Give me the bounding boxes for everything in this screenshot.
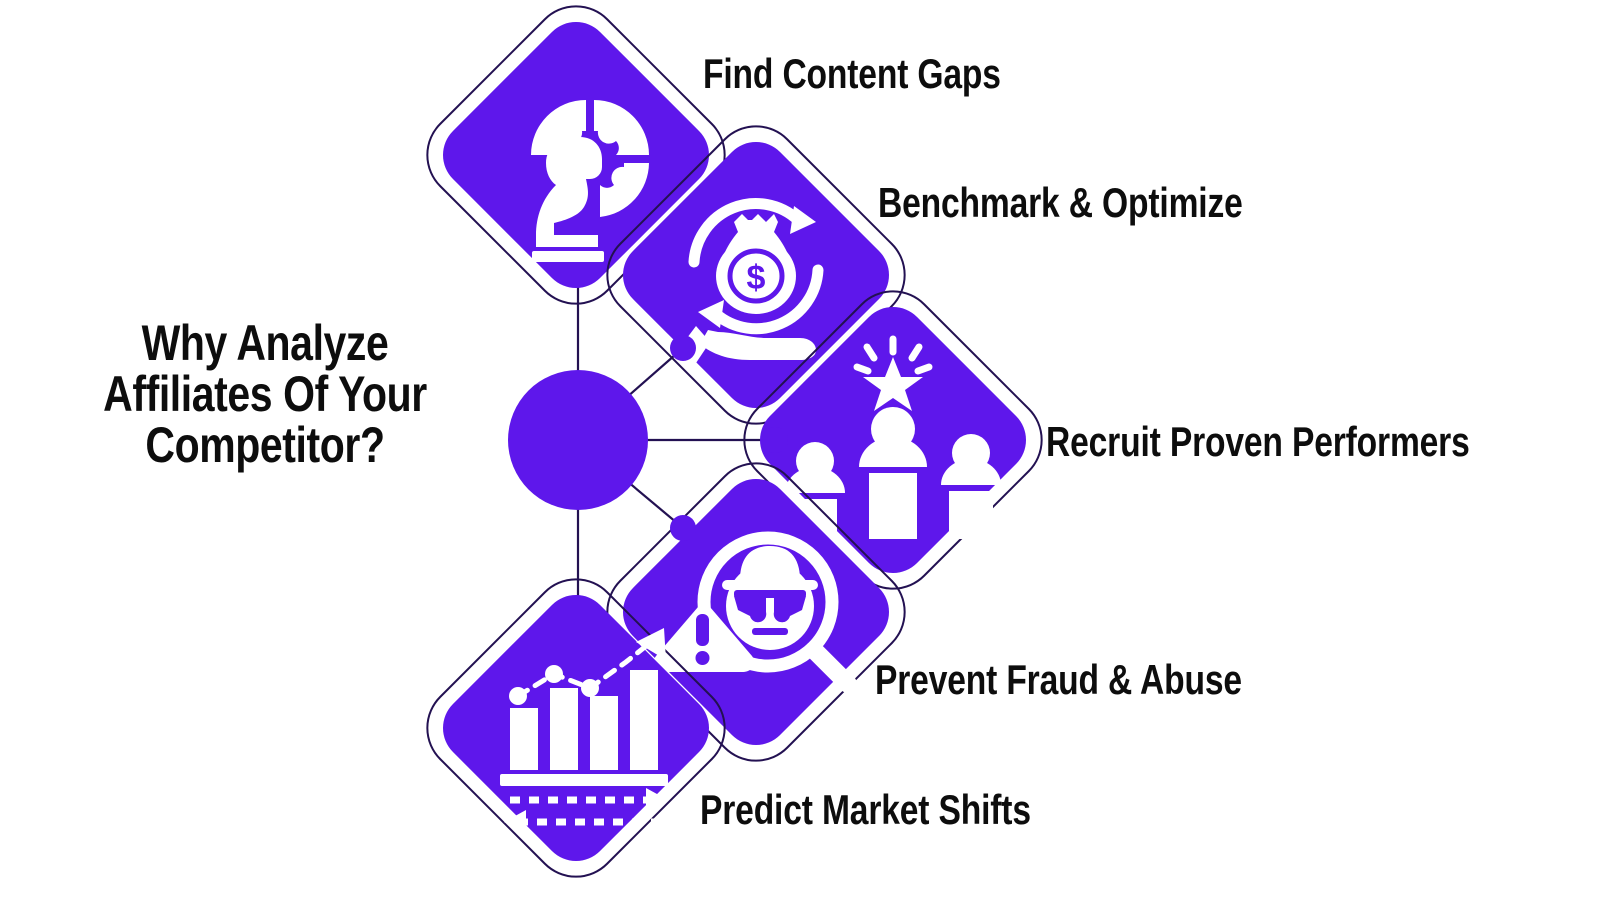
center-hub[interactable] [508,370,648,510]
connector-dot-fraud [670,515,696,541]
svg-text:$: $ [747,259,766,297]
node-label-predict-market-shifts: Predict Market Shifts [700,789,1031,831]
connector-dot-recruit [762,427,788,453]
node-label-benchmark-optimize: Benchmark & Optimize [878,182,1243,224]
connector-dot-benchmark [670,335,696,361]
infographic-canvas: Why Analyze Affiliates Of Your Competito… [0,0,1600,900]
node-label-recruit-proven-performers: Recruit Proven Performers [1046,421,1470,463]
node-label-prevent-fraud-abuse: Prevent Fraud & Abuse [875,659,1242,701]
node-label-find-content-gaps: Find Content Gaps [703,53,1001,95]
